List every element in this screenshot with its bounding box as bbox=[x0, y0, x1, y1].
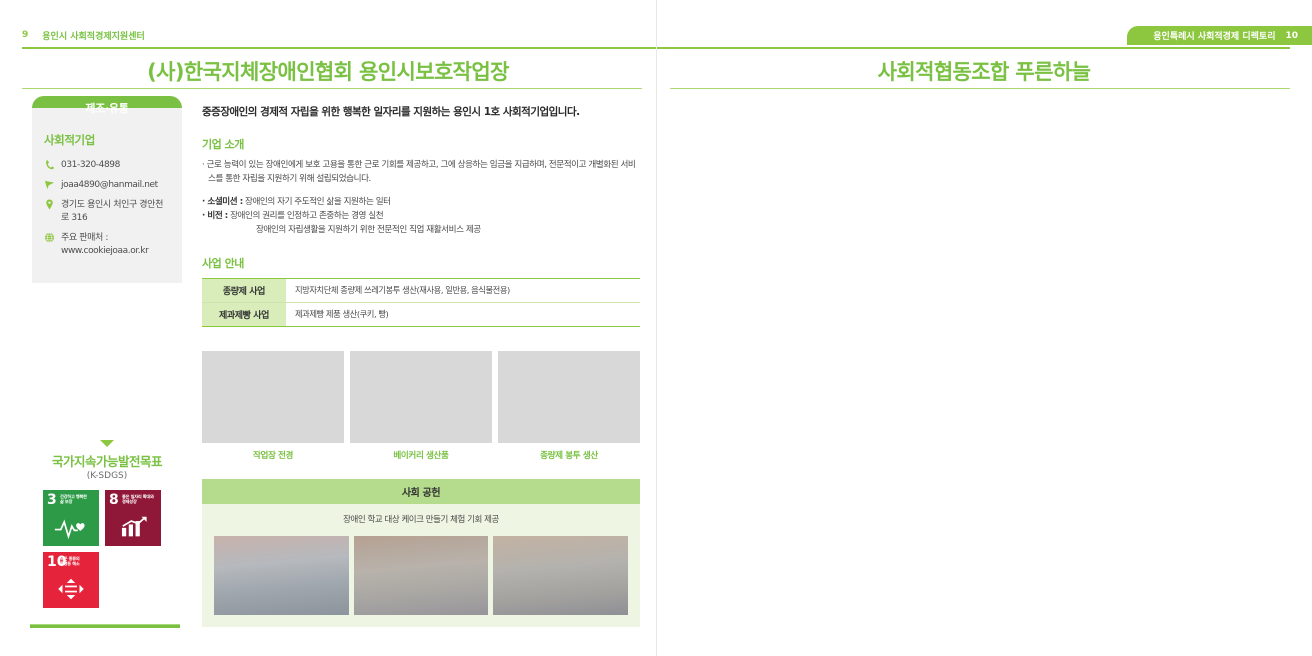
left-contribution-panel: 사회 공헌 장애인 학교 대상 케이크 만들기 체험 기회 제공 bbox=[202, 479, 640, 628]
spacer bbox=[202, 187, 640, 196]
phone-icon bbox=[44, 159, 55, 171]
left-photo-caption-1: 작업장 전경 bbox=[202, 449, 344, 461]
sdg-goal-10-label: 모든 종류의 불평등 해소 bbox=[60, 556, 96, 567]
heartbeat-icon bbox=[43, 512, 99, 542]
left-contact-website-text: 주요 판매처 : www.cookiejoaa.or.kr bbox=[61, 232, 170, 258]
left-sdg-subheading: (K-SDGS) bbox=[32, 471, 182, 481]
right-page-number: 10 bbox=[1285, 31, 1298, 41]
left-page-number: 9 bbox=[22, 30, 28, 40]
left-contribution-line-1: 장애인 학교 대상 케이크 만들기 체험 기회 제공 bbox=[214, 514, 628, 528]
table-row: 제과제빵 사업 제과제빵 제품 생산(쿠키, 빵) bbox=[202, 302, 640, 326]
workshop-exterior-photo bbox=[202, 351, 344, 443]
sdg-goal-3: 3 건강하고 행복한 삶 보장 bbox=[43, 490, 99, 546]
sdg-goal-3-number: 3 bbox=[47, 493, 57, 507]
left-running-head: 9 용인시 사회적경제지원센터 bbox=[22, 26, 145, 44]
right-running-head-text: 용인특례시 사회적경제 디렉토리 bbox=[1153, 29, 1275, 42]
sdg-goal-10: 10 모든 종류의 불평등 해소 bbox=[43, 552, 99, 608]
spacer bbox=[202, 238, 640, 255]
sdg-goal-8-label: 좋은 일자리 확대와 경제성장 bbox=[122, 494, 158, 505]
left-page: 9 용인시 사회적경제지원센터 (사)한국지체장애인협회 용인시보호작업장 제조… bbox=[0, 0, 656, 656]
left-photo-caption-3: 종량제 봉투 생산 bbox=[498, 449, 640, 461]
sdg-goal-3-label: 건강하고 행복한 삶 보장 bbox=[60, 494, 96, 505]
left-photo-2: 베이커리 생산품 bbox=[350, 351, 492, 461]
left-business-heading: 사업 안내 bbox=[202, 255, 640, 271]
right-page: 용인특례시 사회적경제 디렉토리 10 사회적협동조합 푸른하늘 제조·유통 사… bbox=[656, 0, 1312, 656]
left-running-head-text: 용인시 사회적경제지원센터 bbox=[42, 29, 145, 42]
right-running-head: 용인특례시 사회적경제 디렉토리 10 bbox=[1127, 26, 1312, 45]
left-contribution-heading: 사회 공헌 bbox=[202, 479, 640, 504]
garbage-bag-production-photo bbox=[498, 351, 640, 443]
left-page-title: (사)한국지체장애인협회 용인시보호작업장 bbox=[0, 56, 656, 86]
page-gutter-divider bbox=[656, 0, 657, 656]
left-sidebar-body: 사회적기업 031-320-4898 joaa4890@hanmail.net bbox=[32, 108, 182, 283]
left-contribution-photo-row bbox=[214, 536, 628, 615]
left-mission-text-2: 장애인의 권리를 인정하고 존중하는 경영 실천 bbox=[228, 211, 383, 221]
spacer bbox=[202, 461, 640, 479]
left-mission-label-2: · 비전 : bbox=[202, 211, 228, 221]
two-page-spread: 9 용인시 사회적경제지원센터 (사)한국지체장애인협회 용인시보호작업장 제조… bbox=[0, 0, 1312, 656]
left-mission-line-1: · 소셜미션 : 장애인의 자기 주도적인 삶을 지원하는 일터 bbox=[202, 196, 640, 210]
left-photo-3: 종량제 봉투 생산 bbox=[498, 351, 640, 461]
right-title-rule bbox=[670, 88, 1290, 89]
left-business-table: 종량제 사업 지방자치단체 종량제 쓰레기봉투 생산(재사용, 일반용, 음식물… bbox=[202, 278, 640, 327]
left-sidebar: 제조·유통 사회적기업 031-320-4898 joaa4890@hanmai… bbox=[32, 96, 182, 283]
left-contact-website: 주요 판매처 : www.cookiejoaa.or.kr bbox=[44, 232, 170, 258]
bakery-products-photo bbox=[350, 351, 492, 443]
email-icon bbox=[44, 179, 55, 191]
cake-workshop-photo-3 bbox=[493, 536, 628, 615]
left-sdg-heading: 국가지속가능발전목표 bbox=[32, 451, 182, 470]
left-contact-address: 경기도 용인시 처인구 경안천로 316 bbox=[44, 199, 170, 225]
growth-chart-icon bbox=[105, 512, 161, 542]
equality-arrows-icon bbox=[43, 574, 99, 604]
left-main-content: 중증장애인의 경제적 자립을 위한 행복한 일자리를 지원하는 용인시 1호 사… bbox=[202, 104, 640, 627]
left-intro-paragraph: · 근로 능력이 있는 장애인에게 보호 고용을 통한 근로 기회를 제공하고,… bbox=[202, 159, 640, 187]
right-header-rule bbox=[656, 47, 1290, 49]
right-page-title: 사회적협동조합 푸른하늘 bbox=[656, 56, 1312, 86]
left-photo-caption-2: 베이커리 생산품 bbox=[350, 449, 492, 461]
globe-icon bbox=[44, 232, 55, 244]
left-sdg-grid: 3 건강하고 행복한 삶 보장 8 좋은 일자리 확대와 경제성장 10 모든 … bbox=[32, 490, 182, 608]
left-title-rule bbox=[22, 88, 642, 89]
left-photo-row: 작업장 전경 베이커리 생산품 종량제 봉투 생산 bbox=[202, 351, 640, 461]
left-mission-text-1: 장애인의 자기 주도적인 삶을 지원하는 일터 bbox=[243, 197, 391, 207]
left-business-value-1: 지방자치단체 종량제 쓰레기봉투 생산(재사용, 일반용, 음식물전용) bbox=[286, 278, 640, 302]
left-bottom-accent-bar bbox=[30, 624, 180, 628]
left-contribution-body: 장애인 학교 대상 케이크 만들기 체험 기회 제공 bbox=[202, 504, 640, 628]
left-contact-phone: 031-320-4898 bbox=[44, 159, 170, 172]
left-contact-address-text: 경기도 용인시 처인구 경안천로 316 bbox=[61, 199, 170, 225]
down-arrow-icon bbox=[100, 440, 114, 447]
spacer bbox=[202, 327, 640, 351]
left-business-label-1: 종량제 사업 bbox=[202, 278, 286, 302]
left-mission-line-2: · 비전 : 장애인의 권리를 인정하고 존중하는 경영 실천 bbox=[202, 210, 640, 224]
left-photo-1: 작업장 전경 bbox=[202, 351, 344, 461]
left-mission-line-3: 장애인의 자립생활을 지원하기 위한 전문적인 직업 재활서비스 제공 bbox=[202, 224, 640, 238]
left-sdg-block: 국가지속가능발전목표 (K-SDGS) 3 건강하고 행복한 삶 보장 8 좋은… bbox=[32, 440, 182, 608]
table-row: 종량제 사업 지방자치단체 종량제 쓰레기봉투 생산(재사용, 일반용, 음식물… bbox=[202, 278, 640, 302]
left-contact-phone-text: 031-320-4898 bbox=[61, 159, 170, 172]
left-mission-label-1: · 소셜미션 : bbox=[202, 197, 243, 207]
left-contact-email: joaa4890@hanmail.net bbox=[44, 179, 170, 192]
sdg-goal-8: 8 좋은 일자리 확대와 경제성장 bbox=[105, 490, 161, 546]
left-contact-email-text: joaa4890@hanmail.net bbox=[61, 179, 170, 192]
left-business-label-2: 제과제빵 사업 bbox=[202, 302, 286, 326]
left-business-value-2: 제과제빵 제품 생산(쿠키, 빵) bbox=[286, 302, 640, 326]
cake-workshop-photo-2 bbox=[354, 536, 489, 615]
left-org-type: 사회적기업 bbox=[44, 132, 170, 149]
left-intro-heading: 기업 소개 bbox=[202, 136, 640, 152]
sdg-goal-8-number: 8 bbox=[109, 493, 119, 507]
location-pin-icon bbox=[44, 199, 55, 211]
left-lead-text: 중증장애인의 경제적 자립을 위한 행복한 일자리를 지원하는 용인시 1호 사… bbox=[202, 104, 640, 119]
cake-workshop-photo-1 bbox=[214, 536, 349, 615]
left-header-rule bbox=[22, 47, 656, 49]
